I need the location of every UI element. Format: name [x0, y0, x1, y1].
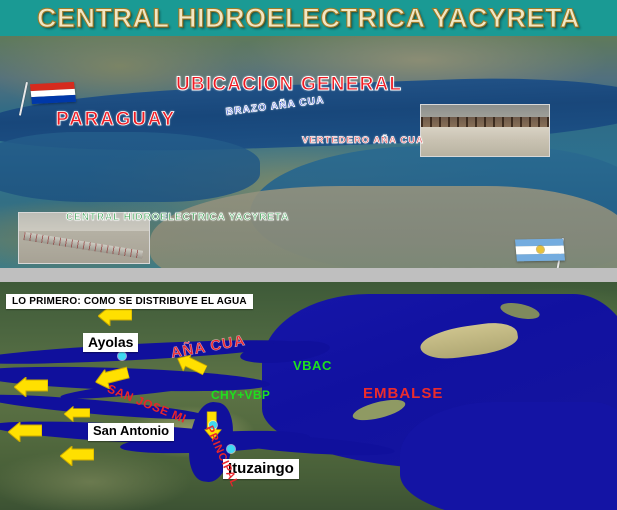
panel-divider: [0, 268, 617, 282]
upstream-water: [0, 132, 260, 202]
argentina-flag-icon: [516, 236, 572, 268]
embalse-reservoir-lower: [400, 402, 617, 510]
spillway-photo: [420, 104, 550, 157]
flag-cloth: [515, 239, 565, 262]
paraguay-label: PARAGUAY: [56, 109, 176, 131]
flow-arrow-yellow: [98, 306, 132, 326]
place-label-san-antonio: San Antonio: [88, 423, 174, 441]
city-marker-ayolas: [118, 352, 126, 360]
flag-cloth: [30, 82, 76, 104]
sun-of-may-icon: [536, 246, 544, 253]
bottom-map-panel: [0, 282, 617, 510]
embalse-label: EMBALSE: [363, 385, 443, 402]
top-map-panel: UBICACION GENERAL PARAGUAY ARGENTINA BRA…: [0, 36, 617, 268]
title-bar: CENTRAL HIDROELECTRICA YACYRETA: [0, 0, 617, 36]
ubicacion-general-heading: UBICACION GENERAL: [176, 74, 402, 96]
vbac-label: VBAC: [293, 358, 332, 373]
flow-arrow-yellow: [8, 422, 42, 442]
chy-vbp-label: CHY+VBP: [211, 388, 270, 402]
vertedero-ana-cua-label: VERTEDERO AÑA CUA: [302, 135, 424, 146]
place-label-ayolas: Ayolas: [83, 333, 138, 352]
flow-arrow-yellow: [64, 406, 90, 422]
central-hidroelectrica-label: CENTRAL HIDROELECTRICA YACYRETA: [66, 212, 289, 223]
city-marker-ituzaingo: [227, 445, 235, 453]
flow-arrow-yellow: [60, 446, 94, 466]
page-title: CENTRAL HIDROELECTRICA YACYRETA: [37, 3, 580, 34]
bottom-panel-heading: LO PRIMERO: COMO SE DISTRIBUYE EL AGUA: [6, 294, 253, 309]
flow-arrow-yellow: [14, 377, 48, 397]
slide-root: CENTRAL HIDROELECTRICA YACYRETA: [0, 0, 617, 510]
